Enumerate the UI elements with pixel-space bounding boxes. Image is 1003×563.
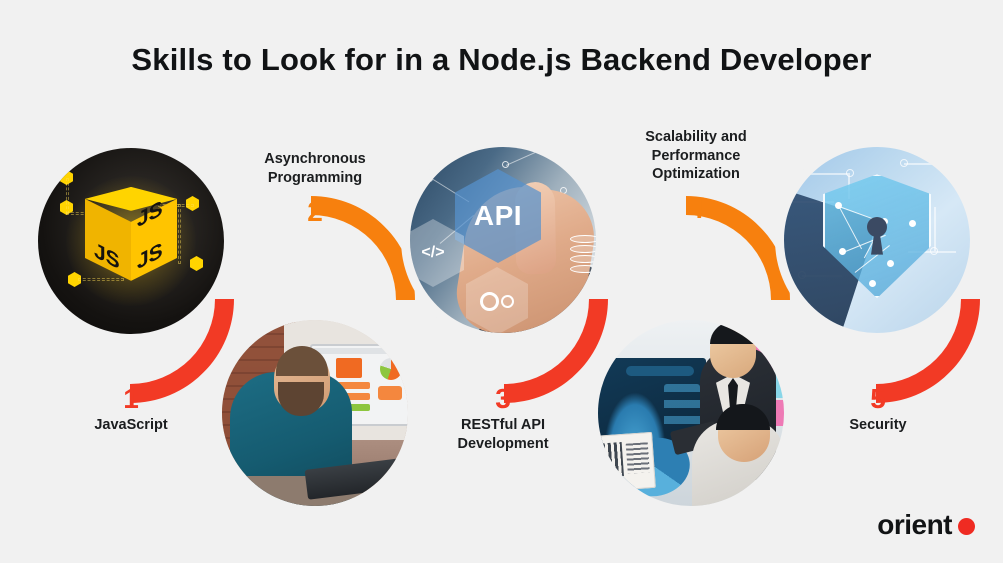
dashed-link (66, 178, 69, 214)
gear-icon (501, 295, 514, 308)
kpi-panel (664, 384, 700, 430)
dashboard-tile (336, 358, 362, 378)
step-label-2: Asynchronous Programming 2 (235, 150, 395, 229)
circuit-trace (904, 163, 958, 165)
mesh-node (909, 220, 916, 227)
circuit-node (930, 247, 938, 255)
step-text-4-line1: Scalability and (612, 128, 780, 147)
step-text-1: JavaScript (51, 416, 211, 435)
step-circle-async[interactable] (222, 320, 408, 506)
step-text-3-line2: Development (423, 435, 583, 454)
paper-bar-chart (598, 442, 624, 478)
code-label: </> (421, 244, 444, 262)
api-hexagon-icon: API </> (410, 147, 596, 333)
step-text-4-line3: Optimization (612, 165, 780, 184)
step-label-1: 1 JavaScript (51, 382, 211, 435)
step-circle-javascript[interactable]: JS JS JS (38, 148, 224, 334)
gear-icon (480, 292, 499, 311)
step-text-5: Security (798, 416, 958, 435)
report-paper (598, 432, 656, 492)
database-icon (570, 235, 596, 269)
step-text-4-line2: Performance (612, 147, 780, 166)
paper-text (626, 442, 650, 473)
api-center-label: API (474, 200, 522, 232)
circuit-trace (790, 173, 848, 175)
step-number-4: 4 (612, 192, 780, 226)
step-number-1: 1 (51, 382, 211, 416)
step-text-2-line2: Programming (235, 169, 395, 188)
step-circle-api[interactable]: API </> (410, 147, 596, 333)
brand-dot-icon (958, 518, 975, 535)
javascript-cube-icon: JS JS JS (38, 148, 224, 334)
step-label-3: 3 RESTful API Development (423, 382, 583, 453)
circuit-trace (934, 207, 936, 251)
step-label-4: Scalability and Performance Optimization… (612, 128, 780, 226)
step-circle-security[interactable] (784, 147, 970, 333)
step-number-2: 2 (235, 195, 395, 229)
team-analytics-photo (598, 320, 784, 506)
mesh-node (869, 280, 876, 287)
db-layer (570, 235, 596, 243)
step-circle-scalability[interactable] (598, 320, 784, 506)
dashboard-donut (380, 358, 402, 380)
circuit-node (846, 169, 854, 177)
brand-name: orient (877, 509, 952, 541)
monitor-toolbar (314, 348, 406, 354)
network-node (502, 161, 509, 168)
person-standing-hair (710, 322, 756, 344)
mesh-node (835, 202, 842, 209)
step-label-5: 5 Security (798, 382, 958, 435)
dashed-link (178, 204, 181, 264)
step-text-2-line1: Asynchronous (235, 150, 395, 169)
security-shield-icon (784, 147, 970, 333)
step-number-3: 3 (423, 382, 583, 416)
db-layer (570, 255, 596, 263)
step-text-3-line1: RESTful API (423, 416, 583, 435)
search-bar (626, 366, 694, 376)
step-number-5: 5 (798, 382, 958, 416)
cube-shape: JS JS JS (85, 187, 177, 291)
mesh-node (839, 248, 846, 255)
network-node (426, 175, 433, 182)
brand-logo[interactable]: orient (877, 509, 975, 541)
db-layer (570, 245, 596, 253)
developer-at-desk-photo (222, 320, 408, 506)
dashboard-tile (378, 386, 402, 400)
keyhole-icon (867, 217, 887, 237)
mesh-node (887, 260, 894, 267)
db-layer (570, 265, 596, 273)
network-line (506, 147, 554, 166)
infographic-canvas: Skills to Look for in a Node.js Backend … (0, 0, 1003, 563)
circuit-node (900, 159, 908, 167)
page-title: Skills to Look for in a Node.js Backend … (0, 42, 1003, 78)
